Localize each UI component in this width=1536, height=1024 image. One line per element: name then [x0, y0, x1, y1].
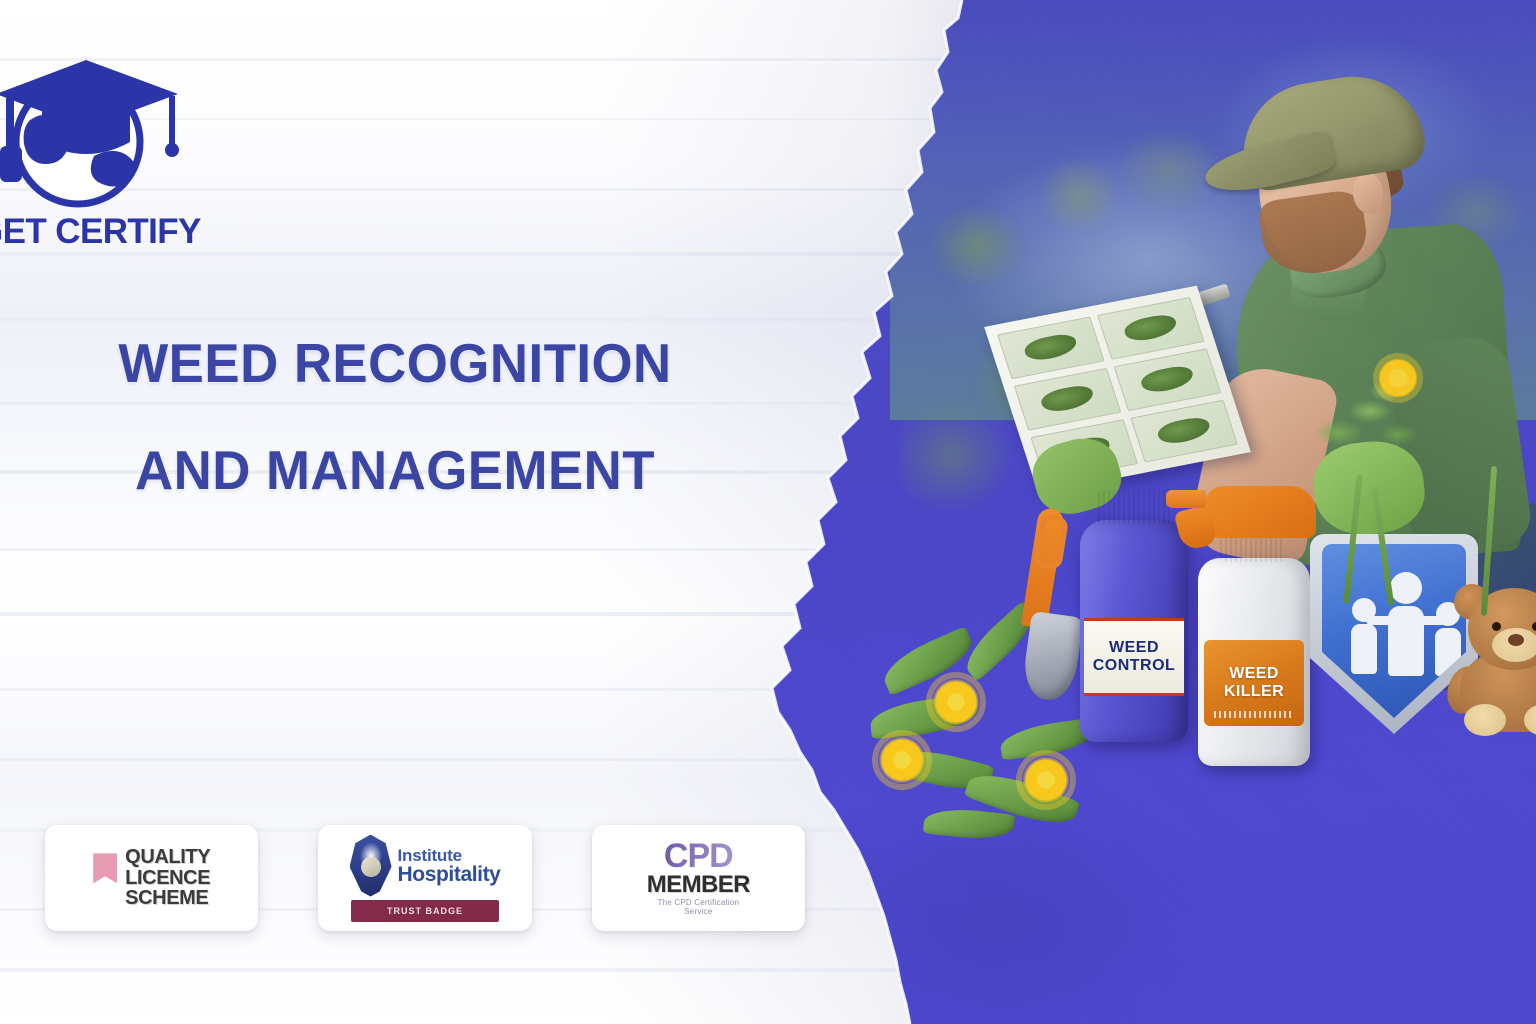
- slide-canvas: WEED CONTROL WEED KILLER: [0, 0, 1536, 1024]
- cpd-sub-line-2: Service: [658, 907, 740, 916]
- page-title-line-2: AND MANAGEMENT: [16, 443, 774, 498]
- accreditation-badges: QUALITY LICENCE SCHEME Institute Hospita…: [45, 825, 805, 935]
- photo-grain-overlay: [770, 0, 1536, 1024]
- badge-quality-licence-scheme[interactable]: QUALITY LICENCE SCHEME: [45, 825, 258, 931]
- page-title: WEED RECOGNITION AND MANAGEMENT: [0, 336, 790, 498]
- brand-logo-text: GET CERTIFY: [0, 212, 206, 252]
- badge-institute-of-hospitality[interactable]: Institute Hospitality TRUST BADGE: [318, 825, 531, 931]
- page-title-line-1: WEED RECOGNITION: [16, 336, 774, 391]
- ioh-trust-bar: TRUST BADGE: [351, 900, 499, 922]
- brand-logo[interactable]: GET CERTIFY: [0, 34, 204, 224]
- institute-crest-icon: [350, 835, 392, 897]
- ioh-line-1: Institute: [398, 847, 501, 864]
- hero-photo-panel: WEED CONTROL WEED KILLER: [770, 0, 1536, 1024]
- cpd-member-text: MEMBER: [647, 873, 750, 897]
- ioh-line-2: Hospitality: [398, 864, 501, 885]
- pink-ribbon-icon: [93, 853, 117, 883]
- cpd-sub-line-1: The CPD Certification: [658, 898, 740, 907]
- qls-line-3: SCHEME: [125, 888, 210, 908]
- qls-line-2: LICENCE: [125, 868, 210, 888]
- qls-line-1: QUALITY: [125, 847, 210, 867]
- badge-cpd-member[interactable]: CPD MEMBER The CPD Certification Service: [592, 825, 805, 931]
- graduation-cap-globe-icon: [0, 34, 204, 224]
- cpd-logo-text: CPD: [664, 840, 733, 872]
